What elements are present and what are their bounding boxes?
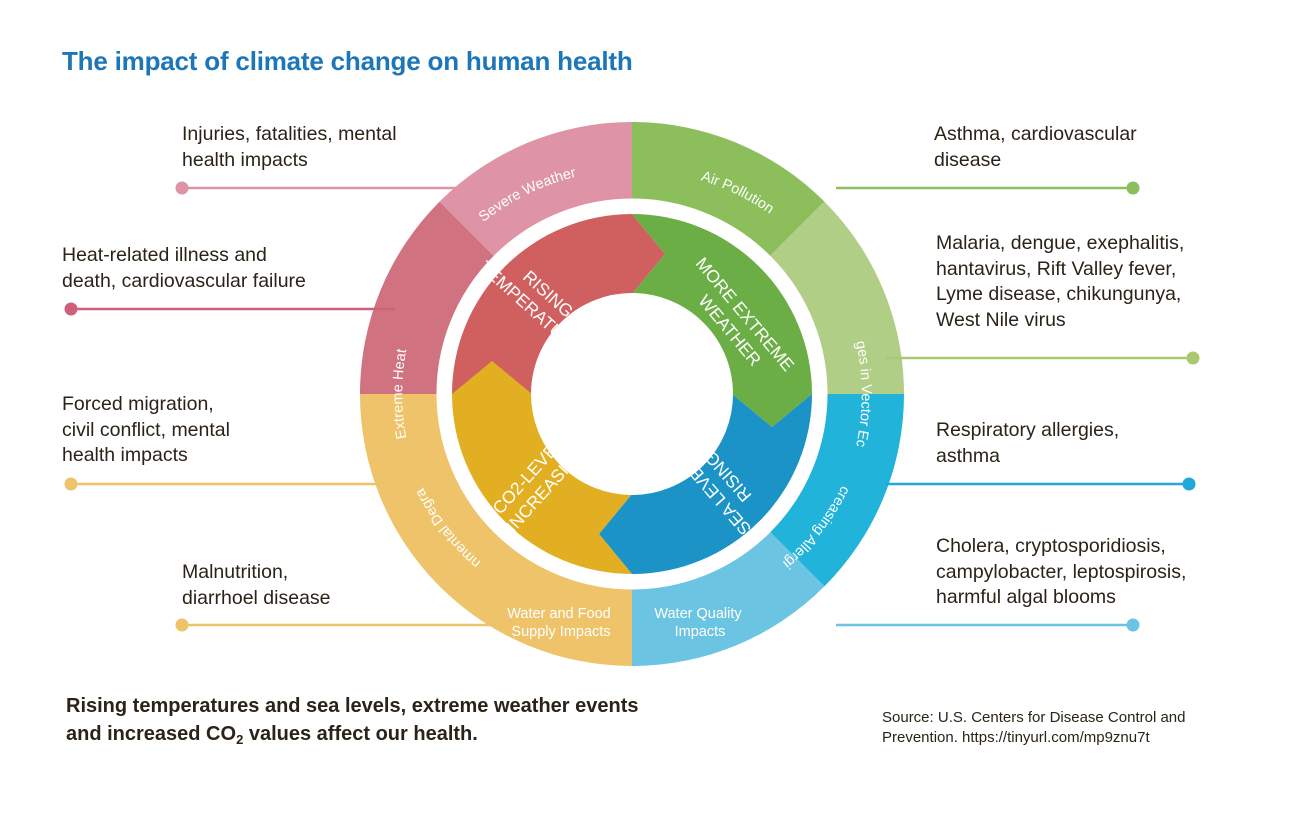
outer-label-air-pollution: Air Pollution <box>699 169 776 218</box>
inner-ring <box>452 214 812 574</box>
leader-dot-cholera-crypto <box>1127 619 1140 632</box>
leader-dot-malnutrition <box>176 619 189 632</box>
inner-segment-rising-sea-levels[interactable] <box>599 394 812 574</box>
page-title: The impact of climate change on human he… <box>62 46 633 77</box>
leader-dot-respiratory-allergies <box>1183 478 1196 491</box>
summary-caption: Rising temperatures and sea levels, extr… <box>66 692 766 750</box>
caption-line-2-post: values affect our health. <box>243 723 478 745</box>
callout-injuries-fatalities: Injuries, fatalities, mental health impa… <box>182 122 482 173</box>
outer-segment-changes-vector-ecology[interactable] <box>768 202 904 394</box>
leader-dot-injuries-fatalities <box>176 182 189 195</box>
leader-dot-heat-related-illness <box>65 303 78 316</box>
outer-segment-environmental-degradation[interactable] <box>360 394 496 586</box>
callout-forced-migration: Forced migration, civil conflict, mental… <box>62 392 362 469</box>
inner-label-rising-sea-levels-text: SEA LEVELS RISING <box>668 428 772 539</box>
inner-segment-rising-temperatures[interactable] <box>452 214 665 394</box>
callout-malaria-dengue: Malaria, dengue, exephalitis, hantavirus… <box>936 231 1266 333</box>
inner-segment-increasing-co2-level[interactable] <box>452 361 632 574</box>
source-note: Source: U.S. Centers for Disease Control… <box>882 708 1272 748</box>
inner-label-more-extreme-weather-text: MORE EXTREME WEATHER <box>675 253 802 392</box>
caption-line-1: Rising temperatures and sea levels, extr… <box>66 695 639 717</box>
outer-segment-increasing-allergies[interactable] <box>768 394 904 586</box>
outer-segment-extreme-heat[interactable] <box>360 202 496 394</box>
outer-segment-water-quality-impacts[interactable] <box>632 530 824 666</box>
source-line-1: Source: U.S. Centers for Disease Control… <box>882 709 1185 726</box>
callout-asthma-cardiovascular: Asthma, cardiovascular disease <box>934 122 1234 173</box>
leader-dot-forced-migration <box>65 478 78 491</box>
inner-segment-more-extreme-weather[interactable] <box>632 214 812 427</box>
caption-line-2-pre: and increased CO <box>66 723 236 745</box>
outer-label-severe-weather: Severe Weather <box>476 165 578 226</box>
inner-label-increasing-co2-level-text: CO2-LEVEL INCREASING <box>486 427 590 536</box>
outer-label-extreme-heat: Extreme Heat <box>390 348 410 440</box>
caption-co2-subscript: 2 <box>236 732 243 747</box>
ring-divider-outer <box>440 202 824 586</box>
callout-cholera-crypto: Cholera, cryptosporidiosis, campylobacte… <box>936 534 1276 611</box>
source-line-2: Prevention. https://tinyurl.com/mp9znu7t <box>882 729 1150 746</box>
callout-heat-related-illness: Heat-related illness and death, cardiova… <box>62 243 402 294</box>
wheel-hub <box>532 294 732 494</box>
outer-label-water-and-food-supply-impacts: Water and Food Supply Impacts <box>507 606 614 640</box>
inner-label-rising-temperatures-text: RISING TEMPERATURES <box>476 240 610 367</box>
callout-malnutrition: Malnutrition, diarrhoel disease <box>182 560 482 611</box>
leader-dot-malaria-dengue <box>1187 352 1200 365</box>
leader-dot-asthma-cardiovascular <box>1127 182 1140 195</box>
outer-segment-air-pollution[interactable] <box>632 122 824 258</box>
outer-label-water-quality-impacts: Water Quality Impacts <box>654 606 745 640</box>
callout-respiratory-allergies: Respiratory allergies, asthma <box>936 418 1236 469</box>
